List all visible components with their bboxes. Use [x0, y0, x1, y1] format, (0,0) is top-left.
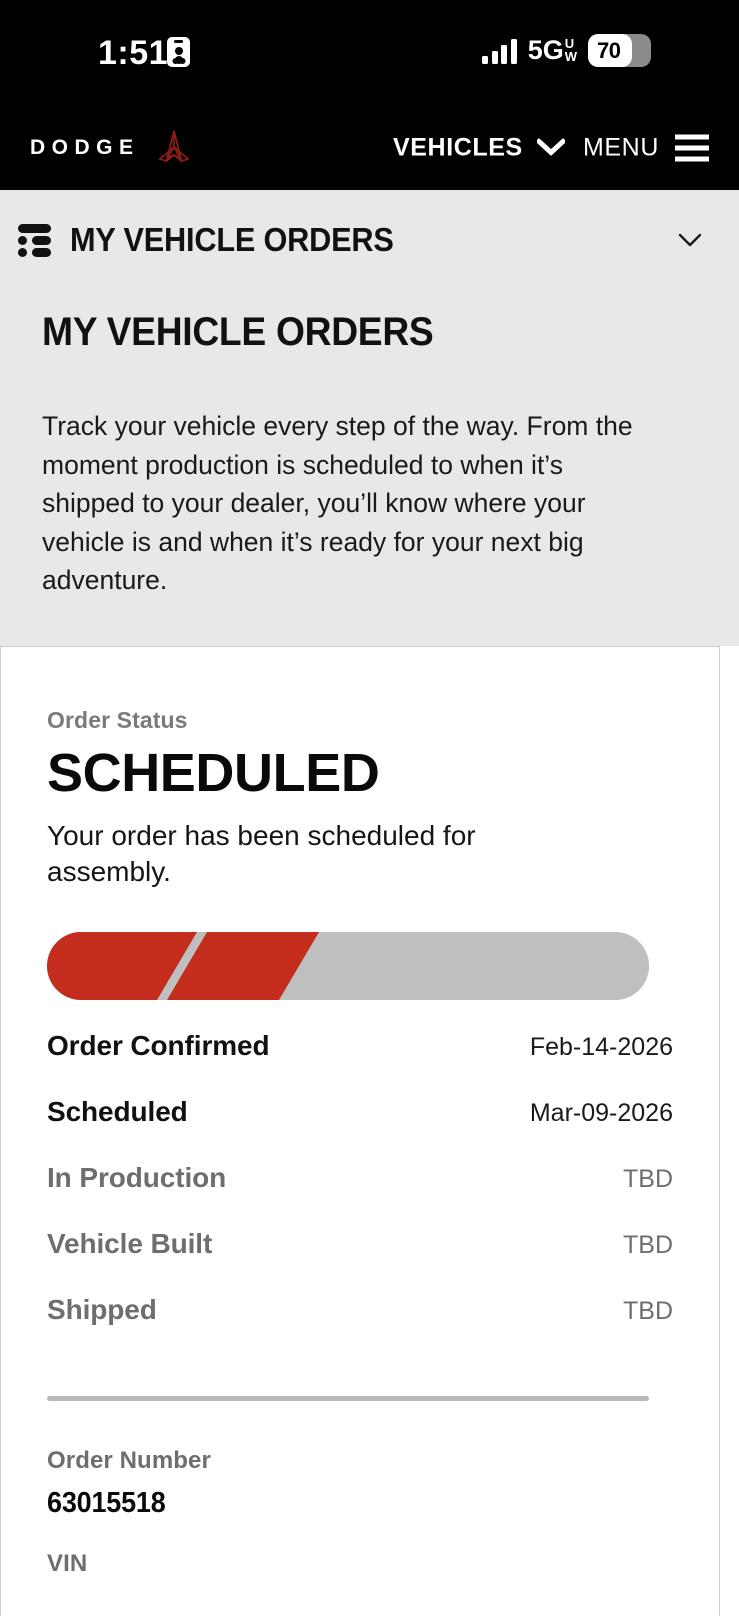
vin-block: VIN: [47, 1550, 673, 1578]
status-bar-indicators: 5G U W 70: [482, 34, 651, 67]
phone-status-bar: 1:51 5G U W 70: [0, 0, 739, 105]
order-number-block: Order Number 63015518: [47, 1447, 673, 1520]
order-number-label: Order Number: [47, 1447, 673, 1475]
orders-hero-section: MY VEHICLE ORDERS MY VEHICLE ORDERS Trac…: [0, 190, 739, 646]
timeline-step-date: TBD: [623, 1297, 673, 1326]
chevron-down-icon: [537, 139, 565, 157]
timeline-step-date: Mar-09-2026: [530, 1099, 673, 1128]
network-sup-bottom: W: [565, 50, 577, 63]
network-type-text: 5G: [528, 37, 564, 64]
status-bar-clock: 1:51: [98, 33, 168, 73]
table-row: Shipped TBD: [47, 1294, 673, 1360]
cellular-signal-icon: [482, 38, 517, 64]
timeline-step-date: Feb-14-2026: [530, 1033, 673, 1062]
order-status-description: Your order has been scheduled for assemb…: [47, 818, 567, 890]
section-divider: [47, 1396, 649, 1401]
timeline-step-name: Order Confirmed: [47, 1030, 270, 1062]
my-vehicle-orders-accordion-header[interactable]: MY VEHICLE ORDERS: [0, 190, 739, 290]
fratzog-logo-icon: [154, 128, 194, 168]
order-metadata: Order Number 63015518 VIN: [47, 1447, 673, 1578]
nav-item-vehicles[interactable]: VEHICLES: [393, 133, 565, 162]
id-badge-icon: [167, 37, 190, 67]
order-timeline: Order Confirmed Feb-14-2026 Scheduled Ma…: [47, 1030, 673, 1360]
order-number-value: 63015518: [47, 1487, 629, 1520]
site-navbar: DODGE VEHICLES MENU: [0, 105, 739, 190]
order-status-label: Order Status: [47, 707, 673, 734]
order-progress-bar: [47, 932, 649, 1000]
battery-icon: 70: [588, 34, 651, 67]
timeline-step-name: In Production: [47, 1162, 226, 1194]
page-title: MY VEHICLE ORDERS: [42, 310, 651, 355]
nav-vehicles-label: VEHICLES: [393, 133, 523, 162]
nav-menu-button[interactable]: MENU: [583, 133, 709, 162]
timeline-step-date: TBD: [623, 1165, 673, 1194]
dodge-logo[interactable]: DODGE: [30, 128, 194, 168]
dodge-wordmark: DODGE: [30, 136, 140, 160]
timeline-step-name: Scheduled: [47, 1096, 188, 1128]
accordion-title: MY VEHICLE ORDERS: [70, 221, 394, 259]
nav-menu-label: MENU: [583, 133, 659, 162]
vin-label: VIN: [47, 1550, 673, 1578]
table-row: Vehicle Built TBD: [47, 1228, 673, 1294]
hamburger-icon: [675, 134, 709, 161]
battery-percent-label: 70: [588, 34, 620, 67]
table-row: Scheduled Mar-09-2026: [47, 1096, 673, 1162]
timeline-step-name: Vehicle Built: [47, 1228, 212, 1260]
timeline-step-name: Shipped: [47, 1294, 157, 1326]
table-row: In Production TBD: [47, 1162, 673, 1228]
timeline-step-date: TBD: [623, 1231, 673, 1260]
order-status-card: Order Status SCHEDULED Your order has be…: [0, 646, 720, 1616]
chevron-down-icon[interactable]: [677, 227, 703, 253]
order-status-value: SCHEDULED: [47, 742, 673, 804]
network-type-label: 5G U W: [528, 37, 577, 64]
page-description: Track your vehicle every step of the way…: [42, 407, 650, 600]
table-row: Order Confirmed Feb-14-2026: [47, 1030, 673, 1096]
network-type-superscript: U W: [565, 37, 577, 63]
list-icon: [10, 222, 54, 258]
